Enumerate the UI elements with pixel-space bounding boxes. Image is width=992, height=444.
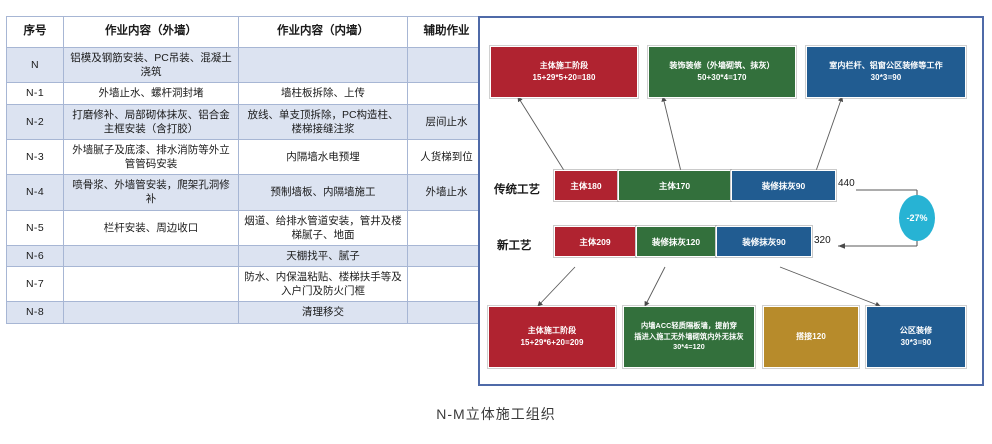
bar-label-new-process: 新工艺 — [497, 237, 532, 253]
cell-auxiliary — [408, 302, 486, 323]
bottom-node-acc-partition: 内墙ACC轻质隔板墙，提前穿 插进入施工无外墙砌筑内外无抹灰 30*4=120 — [623, 306, 755, 368]
bar0-total-label: 440 — [838, 178, 855, 189]
cell-outer-wall — [64, 245, 239, 266]
cell-auxiliary: 外墙止水 — [408, 175, 486, 210]
cell-sequence: N-1 — [7, 83, 64, 104]
schedule-table-container: 序号 作业内容（外墙） 作业内容（内墙） 辅助作业 N 铝模及钢筋安装、PC吊装… — [6, 16, 465, 324]
bottom-node-1-line3: 30*4=120 — [634, 342, 743, 352]
top-node-2-line1: 室内栏杆、铝窗公区装修等工作 — [829, 60, 942, 72]
cell-inner-wall: 墙柱板拆除、上传 — [239, 83, 408, 104]
table-row: N-6 天棚找平、腻子 — [7, 245, 486, 266]
cell-outer-wall: 打磨修补、局部砌体抹灰、铝合金主框安装（含打胶） — [64, 104, 239, 139]
top-node-1-line2: 50+30*4=170 — [669, 72, 774, 84]
bottom-node-0-line1: 主体施工阶段 — [520, 325, 583, 337]
bar1-segment-finishing: 装修抹灰90 — [716, 226, 812, 257]
cell-inner-wall: 预制墙板、内隔墙施工 — [239, 175, 408, 210]
column-header-outer-wall: 作业内容（外墙） — [64, 17, 239, 48]
bar0-segment-decoration: 主体170 — [618, 170, 731, 201]
cell-auxiliary — [408, 245, 486, 266]
cell-auxiliary — [408, 267, 486, 302]
cell-sequence: N-4 — [7, 175, 64, 210]
table-row: N-3 外墙腻子及底漆、排水消防等外立管管码安装 内隔墙水电预埋 人货梯到位 — [7, 139, 486, 174]
cell-auxiliary — [408, 48, 486, 83]
cell-sequence: N — [7, 48, 64, 83]
bottom-node-overlap: 搭接120 — [763, 306, 859, 368]
bottom-node-1-line2: 插进入施工无外墙砌筑内外无抹灰 — [634, 332, 743, 342]
cell-sequence: N-8 — [7, 302, 64, 323]
cell-sequence: N-7 — [7, 267, 64, 302]
bar1-total-label: 320 — [814, 235, 831, 246]
cell-outer-wall: 喷骨浆、外墙管安装，爬架孔洞修补 — [64, 175, 239, 210]
process-comparison-diagram: 主体施工阶段 15+29*5+20=180 装饰装修（外墙砌筑、抹灰） 50+3… — [478, 16, 984, 386]
table-row: N-1 外墙止水、螺杆洞封堵 墙柱板拆除、上传 — [7, 83, 486, 104]
column-header-sequence: 序号 — [7, 17, 64, 48]
table-body: N 铝模及钢筋安装、PC吊装、混凝土浇筑 N-1 外墙止水、螺杆洞封堵 墙柱板拆… — [7, 48, 486, 324]
cell-outer-wall: 外墙腻子及底漆、排水消防等外立管管码安装 — [64, 139, 239, 174]
bar1-segment-main: 主体209 — [554, 226, 636, 257]
cell-inner-wall: 内隔墙水电预埋 — [239, 139, 408, 174]
cell-auxiliary: 人货梯到位 — [408, 139, 486, 174]
top-node-0-line1: 主体施工阶段 — [532, 60, 595, 72]
bar0-segment-main: 主体180 — [554, 170, 618, 201]
cell-outer-wall — [64, 267, 239, 302]
table-header-row: 序号 作业内容（外墙） 作业内容（内墙） 辅助作业 — [7, 17, 486, 48]
bottom-node-public-area: 公区装修 30*3=90 — [866, 306, 966, 368]
top-node-1-line1: 装饰装修（外墙砌筑、抹灰） — [669, 60, 774, 72]
cell-inner-wall — [239, 48, 408, 83]
figure-caption: N-M立体施工组织 — [0, 404, 992, 424]
table-row: N-5 栏杆安装、周边收口 烟道、给排水管道安装，管井及楼梯腻子、地面 — [7, 210, 486, 245]
table-row: N-4 喷骨浆、外墙管安装，爬架孔洞修补 预制墙板、内隔墙施工 外墙止水 — [7, 175, 486, 210]
table-row: N-2 打磨修补、局部砌体抹灰、铝合金主框安装（含打胶） 放线、单支顶拆除，PC… — [7, 104, 486, 139]
cell-sequence: N-5 — [7, 210, 64, 245]
bottom-node-3-line2: 30*3=90 — [900, 337, 932, 349]
cell-inner-wall: 放线、单支顶拆除，PC构造柱、楼梯接缝注浆 — [239, 104, 408, 139]
cell-auxiliary: 层间止水 — [408, 104, 486, 139]
cell-outer-wall — [64, 302, 239, 323]
cell-auxiliary — [408, 83, 486, 104]
construction-schedule-table: 序号 作业内容（外墙） 作业内容（内墙） 辅助作业 N 铝模及钢筋安装、PC吊装… — [6, 16, 486, 324]
top-node-2-line2: 30*3=90 — [829, 72, 942, 84]
bottom-node-main-structure: 主体施工阶段 15+29*6+20=209 — [488, 306, 616, 368]
table-row: N 铝模及钢筋安装、PC吊装、混凝土浇筑 — [7, 48, 486, 83]
cell-inner-wall: 清理移交 — [239, 302, 408, 323]
column-header-inner-wall: 作业内容（内墙） — [239, 17, 408, 48]
cell-outer-wall: 栏杆安装、周边收口 — [64, 210, 239, 245]
top-node-0-line2: 15+29*5+20=180 — [532, 72, 595, 84]
bottom-node-3-line1: 公区装修 — [900, 325, 932, 337]
cell-outer-wall: 铝模及钢筋安装、PC吊装、混凝土浇筑 — [64, 48, 239, 83]
bottom-node-0-line2: 15+29*6+20=209 — [520, 337, 583, 349]
cell-inner-wall: 防水、内保温粘贴、楼梯扶手等及入户门及防火门框 — [239, 267, 408, 302]
cell-inner-wall: 天棚找平、腻子 — [239, 245, 408, 266]
bar-label-traditional: 传统工艺 — [494, 181, 540, 197]
cell-auxiliary — [408, 210, 486, 245]
cell-sequence: N-2 — [7, 104, 64, 139]
column-header-auxiliary: 辅助作业 — [408, 17, 486, 48]
bar1-segment-decoration: 装修抹灰120 — [636, 226, 716, 257]
bottom-node-1-line1: 内墙ACC轻质隔板墙，提前穿 — [634, 321, 743, 331]
table-row: N-8 清理移交 — [7, 302, 486, 323]
top-node-interior-finishing: 室内栏杆、铝窗公区装修等工作 30*3=90 — [806, 46, 966, 98]
bottom-node-2-line1: 搭接120 — [796, 331, 826, 343]
table-row: N-7 防水、内保温粘贴、楼梯扶手等及入户门及防火门框 — [7, 267, 486, 302]
reduction-percentage-badge: -27% — [899, 195, 935, 241]
bar0-segment-finishing: 装修抹灰90 — [731, 170, 836, 201]
diagram-canvas: 主体施工阶段 15+29*5+20=180 装饰装修（外墙砌筑、抹灰） 50+3… — [480, 18, 982, 384]
cell-sequence: N-6 — [7, 245, 64, 266]
top-node-main-structure: 主体施工阶段 15+29*5+20=180 — [490, 46, 638, 98]
cell-sequence: N-3 — [7, 139, 64, 174]
top-node-decoration: 装饰装修（外墙砌筑、抹灰） 50+30*4=170 — [648, 46, 796, 98]
cell-outer-wall: 外墙止水、螺杆洞封堵 — [64, 83, 239, 104]
cell-inner-wall: 烟道、给排水管道安装，管井及楼梯腻子、地面 — [239, 210, 408, 245]
